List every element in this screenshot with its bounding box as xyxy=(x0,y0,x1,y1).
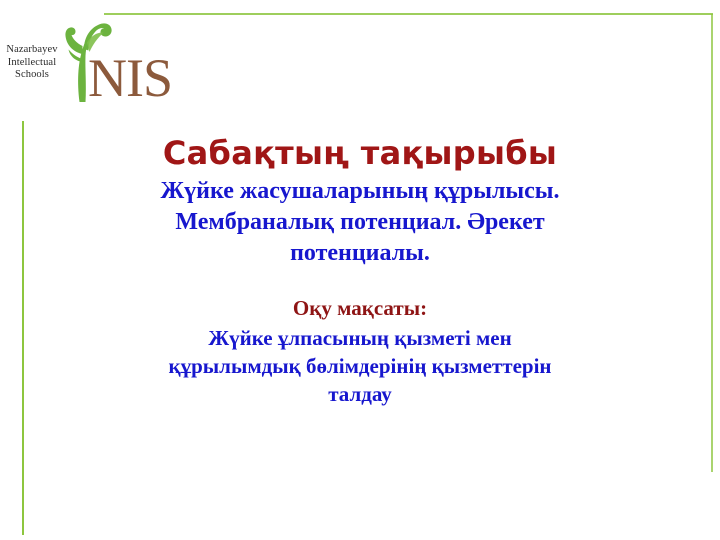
nis-logo: Nazarbayev Intellectual Schools NIS xyxy=(2,18,178,102)
page-title: Сабақтың тақырыбы xyxy=(60,134,660,172)
logo-wordmark: Nazarbayev Intellectual Schools xyxy=(2,44,62,82)
top-divider-line xyxy=(104,13,713,15)
lesson-subtitle: Жүйке жасушаларының құрылысы. Мембраналы… xyxy=(60,176,660,269)
logo-word-line-1: Nazarbayev xyxy=(2,44,62,57)
logo-acronym: NIS xyxy=(88,51,172,105)
right-divider-line xyxy=(711,14,713,472)
slide-canvas: Nazarbayev Intellectual Schools NIS Саба… xyxy=(0,0,720,540)
slide-content: Сабақтың тақырыбы Жүйке жасушаларының құ… xyxy=(60,134,660,408)
left-divider-line xyxy=(22,121,24,535)
learning-goal-text: Жүйке ұлпасының қызметі мен құрылымдық б… xyxy=(60,324,660,408)
logo-word-line-3: Schools xyxy=(2,69,62,82)
logo-word-line-2: Intellectual xyxy=(2,57,62,70)
learning-goal-label: Оқу мақсаты: xyxy=(60,295,660,322)
